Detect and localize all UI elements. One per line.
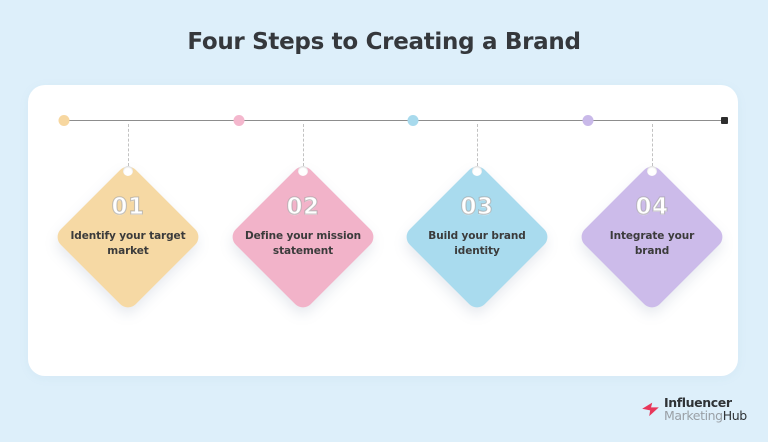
connector-line-1 [128, 124, 129, 166]
step-content-2: 02 Define your mission statement [228, 162, 378, 312]
connector-line-3 [477, 124, 478, 166]
timeline [64, 119, 724, 121]
step-card-3[interactable]: 03 Build your brand identity [402, 162, 552, 312]
step-card-4[interactable]: 04 Integrate your brand [577, 162, 727, 312]
step-content-4: 04 Integrate your brand [577, 162, 727, 312]
page-title: Four Steps to Creating a Brand [0, 29, 768, 55]
step-content-3: 03 Build your brand identity [402, 162, 552, 312]
logo-word-marketing: Marketing [664, 408, 723, 423]
step-number-3: 03 [460, 196, 493, 219]
step-content-1: 01 Identify your target market [53, 162, 203, 312]
step-number-4: 04 [635, 196, 668, 219]
step-card-2[interactable]: 02 Define your mission statement [228, 162, 378, 312]
step-label-3: Build your brand identity [416, 229, 538, 259]
step-label-1: Identify your target market [67, 229, 189, 259]
brand-logo[interactable]: Influencer MarketingHub [640, 394, 747, 424]
step-number-2: 02 [286, 196, 319, 219]
timeline-end-dot-right [721, 117, 728, 124]
step-number-1: 01 [111, 196, 144, 219]
step-label-4: Integrate your brand [591, 229, 713, 259]
connector-line-4 [652, 124, 653, 166]
step-label-2: Define your mission statement [242, 229, 364, 259]
logo-wordmark: Influencer MarketingHub [664, 396, 747, 422]
timeline-node-dot-2[interactable] [234, 115, 245, 126]
timeline-line [64, 120, 724, 121]
timeline-node-dot-4[interactable] [583, 115, 594, 126]
logo-word-hub: Hub [723, 408, 747, 423]
timeline-node-dot-3[interactable] [408, 115, 419, 126]
influencer-arrow-icon [640, 399, 661, 420]
logo-line-marketinghub: MarketingHub [664, 409, 747, 422]
timeline-node-dot-1[interactable] [59, 115, 70, 126]
step-card-1[interactable]: 01 Identify your target market [53, 162, 203, 312]
connector-line-2 [303, 124, 304, 166]
